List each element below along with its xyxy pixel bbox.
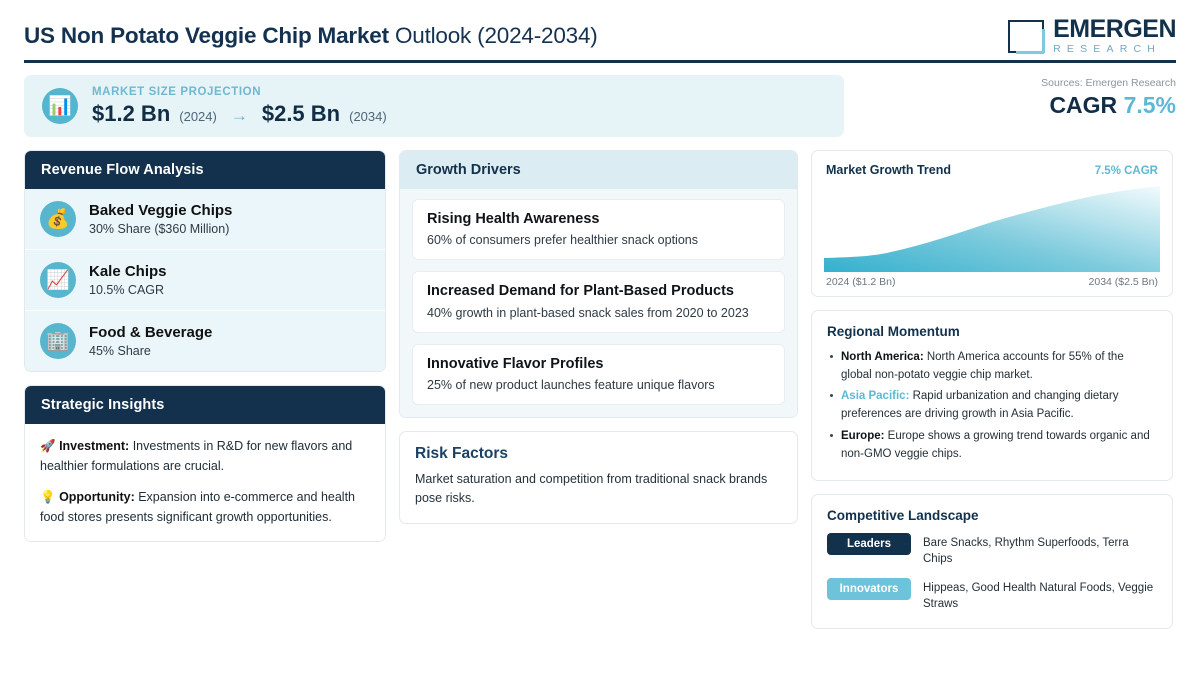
list-item[interactable]: 📈 Kale Chips 10.5% CAGR [25, 249, 385, 310]
strategic-insights-body: 🚀 Investment: Investments in R&D for new… [25, 424, 385, 541]
revenue-flow-list: 💰 Baked Veggie Chips 30% Share ($360 Mil… [25, 189, 385, 371]
growth-drivers-list: Rising Health Awareness 60% of consumers… [400, 189, 797, 417]
revenue-flow-heading: Revenue Flow Analysis [25, 151, 385, 189]
cagr-percent: 7.5% [1124, 92, 1176, 118]
page-title-light: Outlook (2024-2034) [395, 23, 598, 48]
area-chart [824, 186, 1160, 272]
revenue-item-name: Baked Veggie Chips [89, 202, 232, 221]
arrow-right-icon: → [226, 106, 253, 126]
revenue-item-detail: 10.5% CAGR [89, 283, 167, 297]
trend-cagr-badge: 7.5% CAGR [1095, 165, 1158, 177]
emergen-research-logo: EMERGEN RESEARCH [1008, 17, 1176, 55]
page-header: US Non Potato Veggie Chip Market Outlook… [24, 0, 1176, 58]
insight-item: 🚀 Investment: Investments in R&D for new… [40, 436, 370, 477]
logo-name: EMERGEN [1053, 17, 1176, 42]
growth-driver-title: Increased Demand for Plant-Based Product… [427, 283, 770, 300]
risk-factors-text: Market saturation and competition from t… [415, 470, 782, 508]
growth-driver-card[interactable]: Innovative Flavor Profiles 25% of new pr… [412, 344, 785, 405]
competitive-landscape-title: Competitive Landscape [827, 508, 1157, 523]
growth-driver-title: Rising Health Awareness [427, 211, 770, 228]
axis-label-start: 2024 ($1.2 Bn) [826, 276, 895, 288]
money-bag-icon: 💰 [40, 201, 76, 237]
growth-driver-detail: 25% of new product launches feature uniq… [427, 378, 770, 392]
area-chart-fill [824, 186, 1160, 272]
growth-driver-card[interactable]: Rising Health Awareness 60% of consumers… [412, 199, 785, 260]
left-column: Revenue Flow Analysis 💰 Baked Veggie Chi… [24, 150, 386, 542]
growth-drivers-heading: Growth Drivers [400, 151, 797, 189]
infographic-page: US Non Potato Veggie Chip Market Outlook… [0, 0, 1200, 700]
revenue-item-name: Food & Beverage [89, 324, 212, 343]
region-label: North America: [841, 351, 924, 363]
innovators-company-list: Hippeas, Good Health Natural Foods, Vegg… [923, 578, 1157, 613]
regional-momentum-card: Regional Momentum North America: North A… [811, 310, 1173, 481]
market-size-end: $2.5 Bn [262, 101, 340, 127]
status-badge-innovators: Innovators [827, 578, 911, 600]
growth-driver-card[interactable]: Increased Demand for Plant-Based Product… [412, 271, 785, 332]
growth-driver-detail: 40% growth in plant-based snack sales fr… [427, 306, 770, 320]
trend-header: Market Growth Trend 7.5% CAGR [824, 163, 1160, 177]
competitive-landscape-card: Competitive Landscape Leaders Bare Snack… [811, 494, 1173, 629]
strategic-insights-panel: Strategic Insights 🚀 Investment: Investm… [24, 385, 386, 542]
market-size-banner: 📊 MARKET SIZE PROJECTION $1.2 Bn (2024) … [24, 75, 844, 137]
market-size-start-year: (2024) [179, 109, 217, 124]
strategic-insights-heading: Strategic Insights [25, 386, 385, 424]
insight-item: 💡 Opportunity: Expansion into e-commerce… [40, 487, 370, 528]
risk-factors-card: Risk Factors Market saturation and compe… [399, 431, 798, 524]
cagr-label: CAGR [1049, 92, 1117, 118]
market-growth-trend-card: Market Growth Trend 7.5% CAGR [811, 150, 1173, 297]
market-size-end-year: (2034) [349, 109, 387, 124]
banner-values: $1.2 Bn (2024) → $2.5 Bn (2034) [92, 101, 387, 127]
logo-subtitle: RESEARCH [1053, 44, 1176, 55]
cagr-block: Sources: Emergen Research CAGR 7.5% [1041, 77, 1176, 119]
region-label: Asia Pacific: [841, 390, 909, 402]
axis-label-end: 2034 ($2.5 Bn) [1089, 276, 1158, 288]
list-item: Europe: Europe shows a growing trend tow… [827, 427, 1157, 463]
header-divider [24, 60, 1176, 63]
office-building-icon: 🏢 [40, 323, 76, 359]
page-title: US Non Potato Veggie Chip Market Outlook… [24, 23, 598, 49]
cagr-value-block: CAGR 7.5% [1041, 92, 1176, 119]
list-item[interactable]: 🏢 Food & Beverage 45% Share [25, 310, 385, 371]
growth-driver-title: Innovative Flavor Profiles [427, 356, 770, 373]
market-size-banner-row: 📊 MARKET SIZE PROJECTION $1.2 Bn (2024) … [24, 75, 1176, 137]
revenue-item-detail: 30% Share ($360 Million) [89, 222, 232, 236]
risk-factors-title: Risk Factors [415, 445, 782, 463]
region-label: Europe: [841, 430, 884, 442]
regional-momentum-list: North America: North America accounts fo… [827, 348, 1157, 463]
revenue-flow-panel: Revenue Flow Analysis 💰 Baked Veggie Chi… [24, 150, 386, 372]
market-size-start: $1.2 Bn [92, 101, 170, 127]
light-bulb-icon: 💡 [40, 490, 56, 504]
insight-label: Investment: [59, 439, 129, 453]
revenue-item-name: Kale Chips [89, 263, 167, 282]
list-item[interactable]: 💰 Baked Veggie Chips 30% Share ($360 Mil… [25, 189, 385, 249]
table-row: Leaders Bare Snacks, Rhythm Superfoods, … [827, 533, 1157, 568]
list-item: North America: North America accounts fo… [827, 348, 1157, 384]
content-columns: Revenue Flow Analysis 💰 Baked Veggie Chi… [24, 150, 1176, 629]
growth-drivers-panel: Growth Drivers Rising Health Awareness 6… [399, 150, 798, 418]
right-column: Market Growth Trend 7.5% CAGR [811, 150, 1173, 629]
area-chart-svg [824, 186, 1160, 272]
list-item: Asia Pacific: Rapid urbanization and cha… [827, 387, 1157, 423]
chart-increasing-icon: 📈 [40, 262, 76, 298]
trend-axis-labels: 2024 ($1.2 Bn) 2034 ($2.5 Bn) [824, 272, 1160, 288]
regional-momentum-title: Regional Momentum [827, 324, 1157, 339]
middle-column: Growth Drivers Rising Health Awareness 6… [399, 150, 798, 524]
bar-chart-icon: 📊 [42, 88, 78, 124]
page-title-strong: US Non Potato Veggie Chip Market [24, 23, 389, 48]
sources-text: Sources: Emergen Research [1041, 77, 1176, 89]
logo-square-icon [1008, 20, 1044, 53]
table-row: Innovators Hippeas, Good Health Natural … [827, 578, 1157, 613]
insight-label: Opportunity: [59, 490, 135, 504]
region-text: Europe shows a growing trend towards org… [841, 430, 1150, 460]
rocket-icon: 🚀 [40, 439, 56, 453]
leaders-company-list: Bare Snacks, Rhythm Superfoods, Terra Ch… [923, 533, 1157, 568]
trend-title: Market Growth Trend [826, 163, 951, 177]
growth-driver-detail: 60% of consumers prefer healthier snack … [427, 233, 770, 247]
revenue-item-detail: 45% Share [89, 344, 212, 358]
banner-label: MARKET SIZE PROJECTION [92, 86, 387, 98]
status-badge-leaders: Leaders [827, 533, 911, 555]
